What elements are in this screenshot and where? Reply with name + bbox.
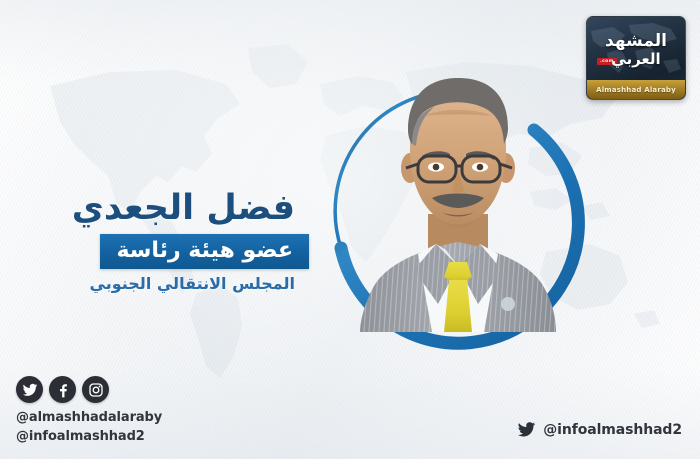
handle-primary[interactable]: @almashhadalaraby xyxy=(16,409,162,428)
facebook-icon[interactable] xyxy=(49,376,76,403)
subject-name: فضل الجعدي xyxy=(72,188,295,228)
role-banner: عضو هيئة رئاسة xyxy=(100,234,309,269)
logo-gold-bar: Almashhad Alaraby xyxy=(587,80,685,99)
footer-twitter-handle: @infoalmashhad2 xyxy=(543,422,682,438)
footer-twitter-credit[interactable]: @infoalmashhad2 xyxy=(517,420,682,439)
twitter-icon[interactable] xyxy=(16,376,43,403)
logo-latin-name: Almashhad Alaraby xyxy=(596,86,676,94)
portrait-container xyxy=(329,64,585,336)
social-block: @almashhadalaraby @infoalmashhad2 xyxy=(16,376,162,447)
logo-arabic-line-2: العربي xyxy=(587,52,685,68)
social-icons xyxy=(16,376,162,403)
news-graphic-card: .com المشهد العربي Almashhad Alaraby xyxy=(0,0,700,459)
organization-label: المجلس الانتقالي الجنوبي xyxy=(90,274,295,293)
channel-logo: .com المشهد العربي Almashhad Alaraby xyxy=(586,16,686,100)
handle-secondary[interactable]: @infoalmashhad2 xyxy=(16,428,162,447)
logo-arabic-wordmark: المشهد العربي xyxy=(587,33,685,68)
twitter-bird-icon xyxy=(517,420,536,439)
subject-photo xyxy=(352,64,564,332)
instagram-icon[interactable] xyxy=(82,376,109,403)
social-handles: @almashhadalaraby @infoalmashhad2 xyxy=(16,409,162,447)
role-label: عضو هيئة رئاسة xyxy=(116,238,293,263)
logo-arabic-line-1: المشهد xyxy=(587,33,685,51)
